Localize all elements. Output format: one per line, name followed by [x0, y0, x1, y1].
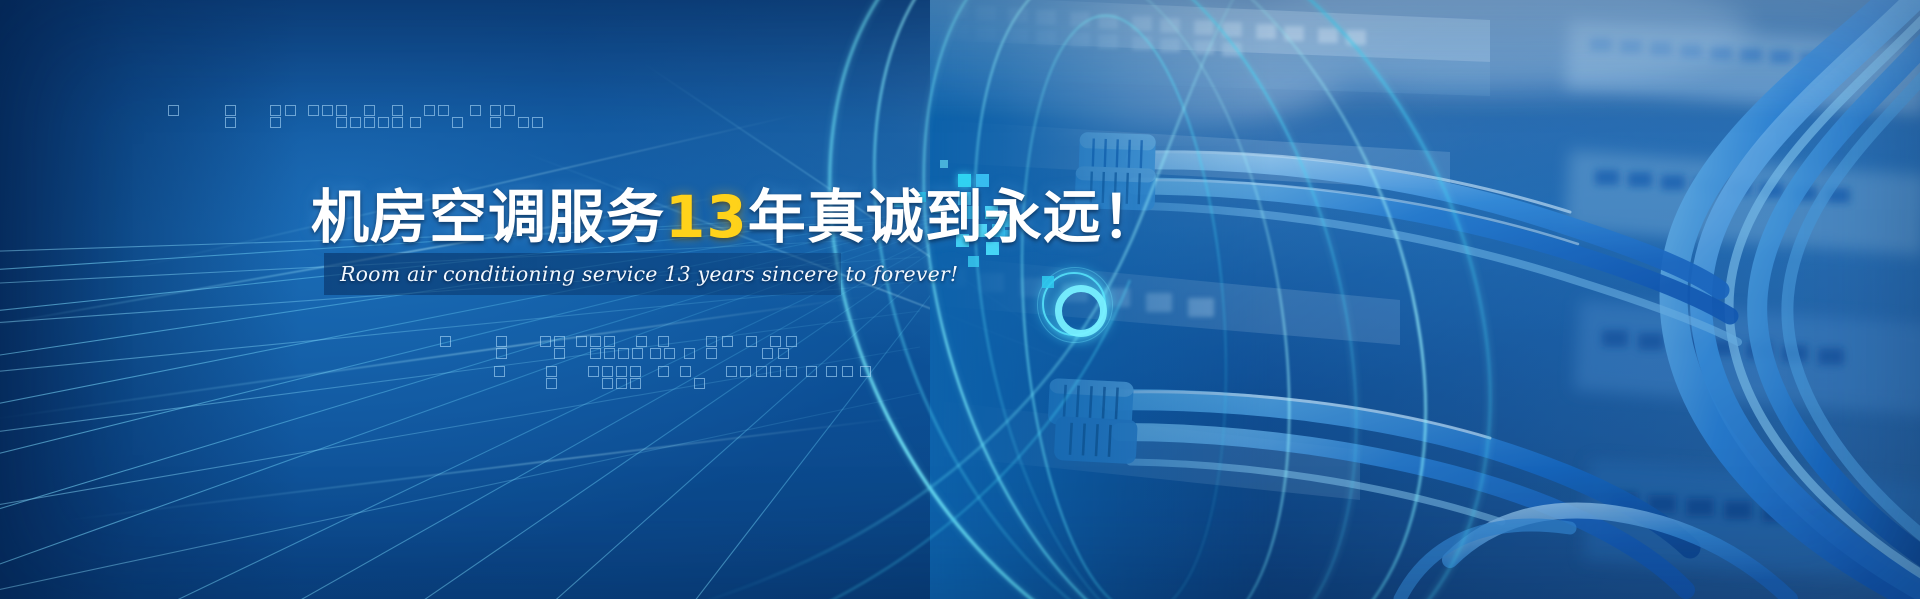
headline-part2: 年真诚到永远！: [748, 183, 1161, 251]
headline-highlight-number: 13: [665, 183, 748, 251]
light-swirl-arcs: [760, 0, 1540, 599]
headline-part1: 机房空调服务: [311, 183, 665, 251]
headline: 机房空调服务13年真诚到永远！: [311, 170, 1161, 254]
dot-matrix-top: [160, 104, 580, 130]
subtitle-text: Room air conditioning service 13 years s…: [340, 255, 840, 293]
hero-banner: Room air conditioning service 13 years s…: [0, 0, 1920, 599]
dot-matrix-bottom: [440, 330, 890, 390]
